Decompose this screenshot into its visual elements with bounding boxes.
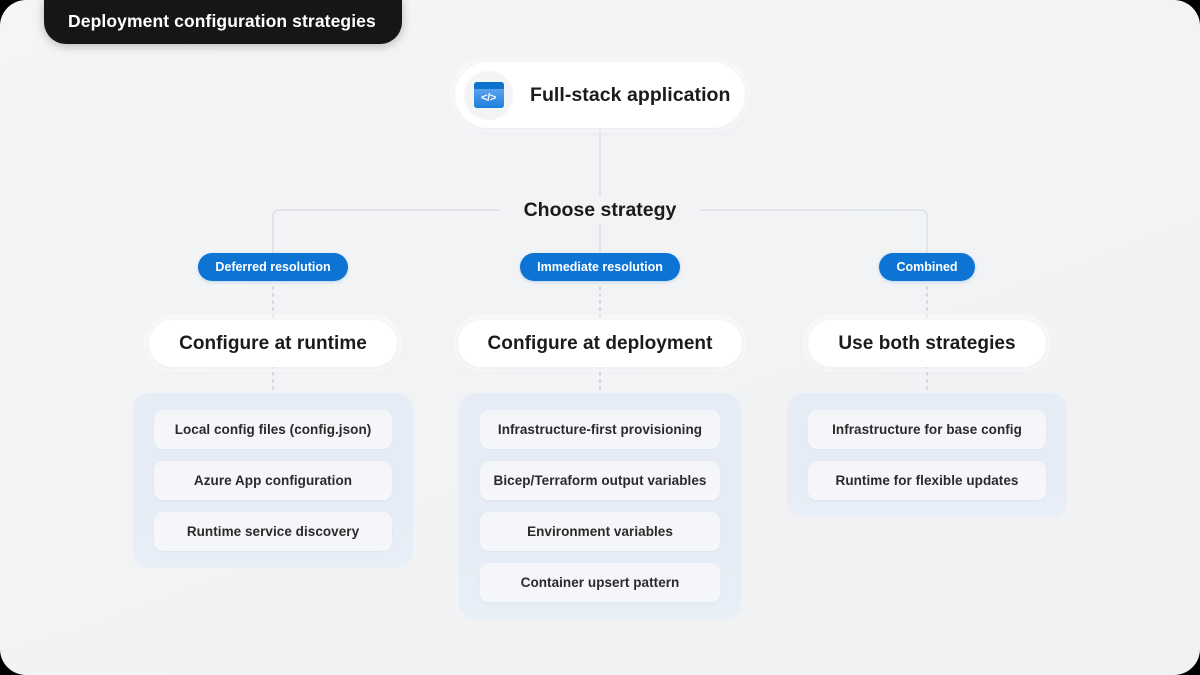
list-item-label: Infrastructure for base config [832,422,1022,437]
code-window-glyph: </> [474,89,504,108]
list-item-label: Runtime for flexible updates [836,473,1019,488]
list-item[interactable]: Runtime service discovery [154,512,392,551]
strategy-heading-card-combined[interactable]: Use both strategies [808,320,1045,367]
list-item-label: Infrastructure-first provisioning [498,422,702,437]
code-window-icon: </> [474,82,504,108]
diagram-canvas: Deployment configuration strategies </> … [0,0,1200,675]
strategy-heading-text: Configure at runtime [179,333,367,355]
strategy-heading-card-deferred[interactable]: Configure at runtime [149,320,397,367]
list-item-label: Bicep/Terraform output variables [494,473,707,488]
diagram-title-text: Deployment configuration strategies [68,11,376,32]
code-window-titlebar [474,82,504,89]
root-icon-container: </> [464,71,513,120]
list-item[interactable]: Local config files (config.json) [154,410,392,449]
list-item[interactable]: Runtime for flexible updates [808,461,1046,500]
strategy-column-combined: Combined Use both strategies Infrastruct… [787,253,1067,517]
strategy-items-panel-deferred: Local config files (config.json) Azure A… [133,393,413,568]
list-item-label: Container upsert pattern [521,575,680,590]
strategy-items-panel-combined: Infrastructure for base config Runtime f… [787,393,1067,517]
strategy-badge-immediate[interactable]: Immediate resolution [520,253,680,281]
list-item[interactable]: Environment variables [480,512,720,551]
list-item-label: Local config files (config.json) [175,422,372,437]
list-item-label: Environment variables [527,524,673,539]
list-item-label: Azure App configuration [194,473,352,488]
strategy-column-deferred: Deferred resolution Configure at runtime… [133,253,413,568]
list-item[interactable]: Bicep/Terraform output variables [480,461,720,500]
strategy-column-immediate: Immediate resolution Configure at deploy… [459,253,741,619]
list-item[interactable]: Infrastructure-first provisioning [480,410,720,449]
strategy-items-panel-immediate: Infrastructure-first provisioning Bicep/… [459,393,741,619]
root-node-label: Full-stack application [530,84,730,107]
strategy-badge-combined[interactable]: Combined [879,253,974,281]
list-item[interactable]: Container upsert pattern [480,563,720,602]
list-item[interactable]: Infrastructure for base config [808,410,1046,449]
diagram-title-chip: Deployment configuration strategies [44,0,402,44]
branch-divider-text: Choose strategy [507,196,694,224]
branch-divider-label: Choose strategy [0,196,1200,224]
list-item-label: Runtime service discovery [187,524,359,539]
strategy-heading-text: Use both strategies [838,333,1015,355]
strategy-heading-text: Configure at deployment [488,333,713,355]
strategy-heading-card-immediate[interactable]: Configure at deployment [458,320,743,367]
strategy-badge-deferred[interactable]: Deferred resolution [198,253,347,281]
list-item[interactable]: Azure App configuration [154,461,392,500]
root-node-full-stack-application[interactable]: </> Full-stack application [455,62,745,128]
